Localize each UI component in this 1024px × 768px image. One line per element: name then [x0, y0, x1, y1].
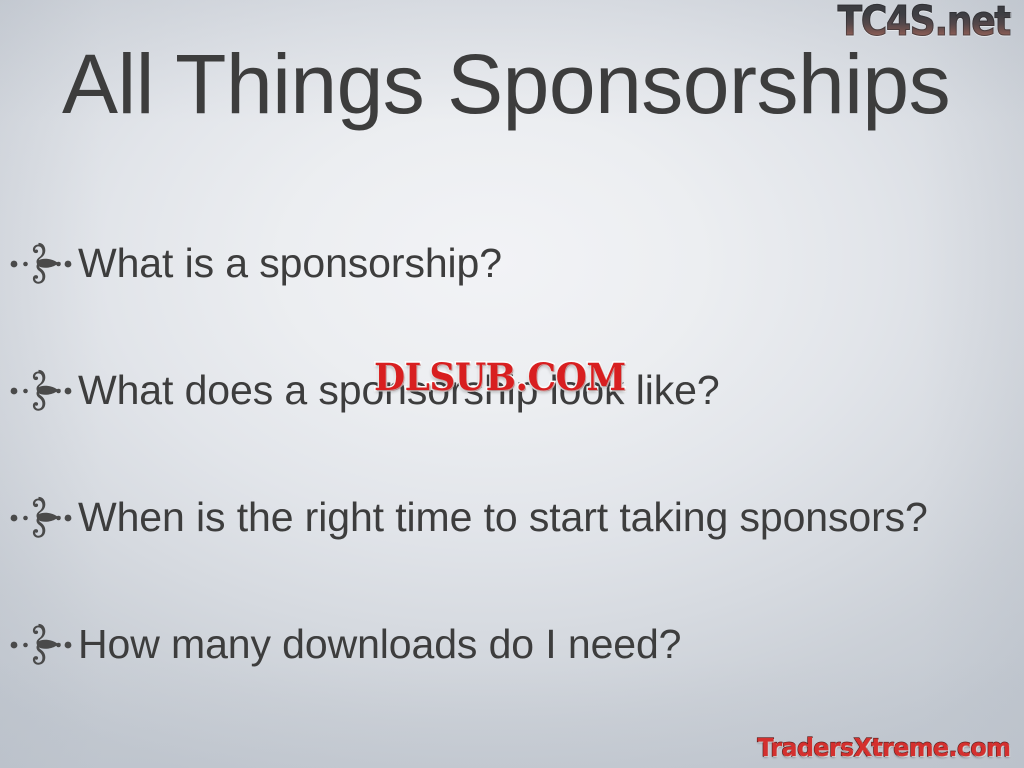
list-item-label: When is the right time to start taking s… — [72, 497, 1018, 538]
tradersxtreme-footer-logo: TradersXtreme.com — [757, 734, 1010, 762]
bullet-list: What is a sponsorship? What does a spons… — [8, 236, 1018, 673]
list-item: What is a sponsorship? — [8, 236, 1018, 292]
tc4s-logo: TC4S.net — [837, 0, 1010, 42]
dlsub-watermark: DLSUB.COM — [374, 359, 626, 396]
list-item-label: What is a sponsorship? — [72, 243, 1018, 284]
page-title: All Things Sponsorships — [62, 40, 992, 129]
presentation-slide: All Things Sponsorships What is a sponso… — [0, 0, 1024, 768]
fleuron-ornament-bullet-icon — [8, 238, 72, 290]
fleuron-ornament-bullet-icon — [8, 492, 72, 544]
list-item: How many downloads do I need? — [8, 617, 1018, 673]
list-item: When is the right time to start taking s… — [8, 490, 1018, 546]
list-item-label: How many downloads do I need? — [72, 624, 1018, 665]
fleuron-ornament-bullet-icon — [8, 619, 72, 671]
fleuron-ornament-bullet-icon — [8, 365, 72, 417]
